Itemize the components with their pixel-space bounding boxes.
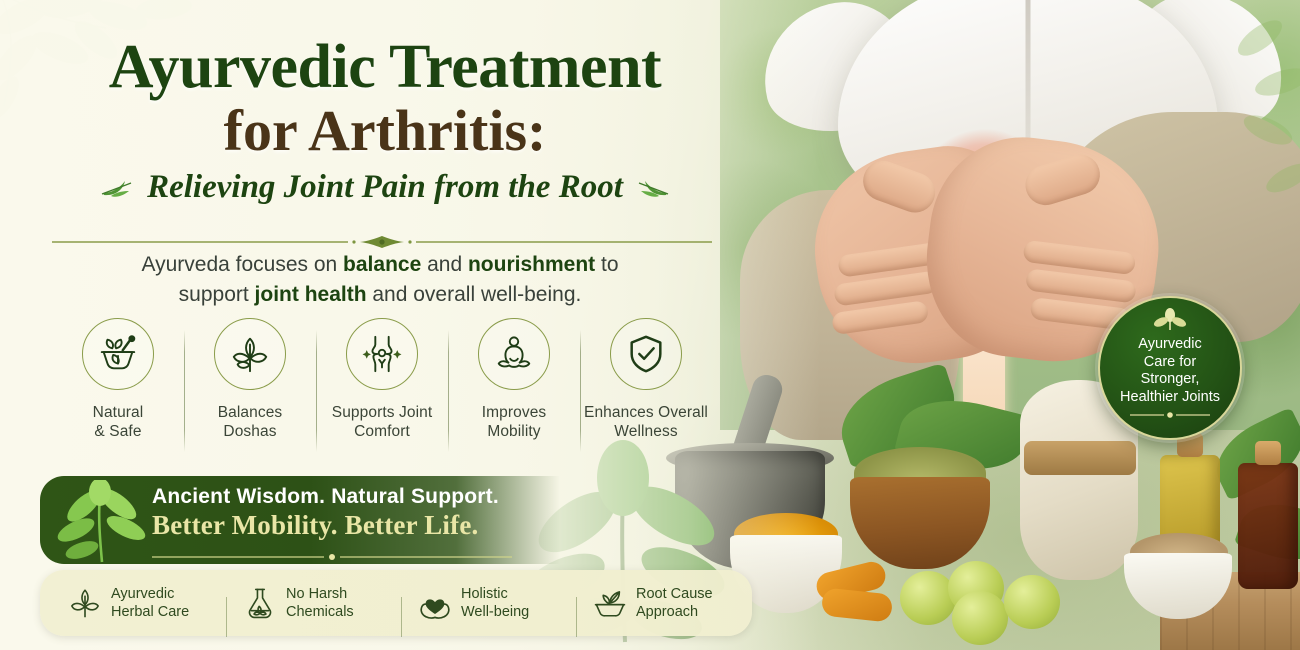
strip-item-label: Holistic Well-being — [461, 585, 529, 622]
ayurveda-arthritis-banner: Ayurvedic Treatment for Arthritis: Relie… — [0, 0, 1300, 650]
feature-icon-circle — [214, 318, 286, 390]
feature-natural-safe[interactable]: Natural & Safe — [52, 318, 184, 442]
headline-block: Ayurvedic Treatment for Arthritis: Relie… — [0, 36, 770, 206]
seal-line-3: Stronger, — [1104, 371, 1236, 389]
leaf-ornament-left-icon — [101, 177, 135, 197]
mortar-pestle-icon — [97, 333, 139, 375]
tagline-line-2: Better Mobility. Better Life. — [152, 510, 542, 541]
lead-text: support — [179, 283, 255, 306]
knee-joint-icon — [361, 333, 403, 375]
feature-icon-circle — [82, 318, 154, 390]
mortar-leaf-bowl-icon — [593, 586, 627, 620]
seal-line-4: Healthier Joints — [1104, 389, 1236, 407]
feature-label: Natural & Safe — [93, 403, 144, 442]
banner-leaf-icon — [50, 480, 154, 564]
bottom-feature-strip: Ayurvedic Herbal Care — [40, 570, 752, 636]
lead-paragraph: Ayurveda focuses on balance and nourishm… — [0, 250, 760, 310]
tagline-line-1: Ancient Wisdom. Natural Support. — [152, 485, 542, 509]
strip-item-ayurvedic-herbal-care[interactable]: Ayurvedic Herbal Care — [40, 585, 227, 622]
seal-leaf-icon — [1153, 308, 1187, 332]
herbal-plant-icon — [68, 586, 102, 620]
seal-badge: Ayurvedic Care for Stronger, Healthier J… — [1098, 296, 1242, 440]
strip-item-root-cause-approach[interactable]: Root Cause Approach — [577, 585, 752, 622]
shield-check-icon — [625, 333, 667, 375]
heart-in-hands-icon — [418, 586, 452, 620]
seal-underline-ornament — [1130, 412, 1210, 418]
feature-improves-mobility[interactable]: Improves Mobility — [448, 318, 580, 442]
feature-icon-circle — [610, 318, 682, 390]
feature-label: Enhances Overall Wellness — [584, 403, 708, 442]
feature-label: Balances Doshas — [218, 403, 283, 442]
lead-text: and overall well-being. — [367, 283, 582, 306]
seal-line-1: Ayurvedic — [1104, 336, 1236, 354]
feature-enhances-wellness[interactable]: Enhances Overall Wellness — [580, 318, 712, 442]
feature-icon-row: Natural & Safe — [52, 318, 712, 442]
lead-bold-balance: balance — [343, 253, 421, 276]
seal-text-block: Ayurvedic Care for Stronger, Healthier J… — [1104, 336, 1236, 407]
feature-label: Improves Mobility — [482, 403, 547, 442]
page-title-line-1: Ayurvedic Treatment — [0, 36, 770, 98]
feature-balances-doshas[interactable]: Balances Doshas — [184, 318, 316, 442]
lead-text: to — [595, 253, 618, 276]
strip-item-label: No Harsh Chemicals — [286, 585, 354, 622]
strip-item-label: Root Cause Approach — [636, 585, 713, 622]
strip-item-label: Ayurvedic Herbal Care — [111, 585, 189, 622]
lead-bold-joint-health: joint health — [255, 283, 367, 306]
flask-no-chemicals-icon — [243, 586, 277, 620]
page-title-line-2: for Arthritis: — [0, 100, 770, 163]
feature-icon-circle — [478, 318, 550, 390]
strip-item-holistic-wellbeing[interactable]: Holistic Well-being — [402, 585, 577, 622]
lead-line-1: Ayurveda focuses on balance and nourishm… — [0, 250, 760, 280]
page-subtitle: Relieving Joint Pain from the Root — [147, 169, 623, 206]
subtitle-row: Relieving Joint Pain from the Root — [0, 169, 770, 206]
feature-supports-joint-comfort[interactable]: Supports Joint Comfort — [316, 318, 448, 442]
herb-leaf-icon — [229, 333, 271, 375]
meditation-yoga-icon — [493, 333, 535, 375]
lead-text: and — [421, 253, 468, 276]
lead-line-2: support joint health and overall well-be… — [0, 280, 760, 310]
lead-bold-nourishment: nourishment — [468, 253, 595, 276]
strip-item-no-harsh-chemicals[interactable]: No Harsh Chemicals — [227, 585, 402, 622]
tagline-text-block: Ancient Wisdom. Natural Support. Better … — [152, 485, 542, 541]
feature-label: Supports Joint Comfort — [332, 403, 433, 442]
feature-icon-circle — [346, 318, 418, 390]
tagline-banner: Ancient Wisdom. Natural Support. Better … — [40, 476, 560, 564]
tagline-underline-ornament — [152, 554, 512, 560]
content-layer: Ayurvedic Treatment for Arthritis: Relie… — [0, 0, 1300, 650]
ornamental-divider — [52, 235, 712, 249]
lead-text: Ayurveda focuses on — [141, 253, 343, 276]
leaf-ornament-right-icon — [635, 177, 669, 197]
seal-line-2: Care for — [1104, 354, 1236, 372]
